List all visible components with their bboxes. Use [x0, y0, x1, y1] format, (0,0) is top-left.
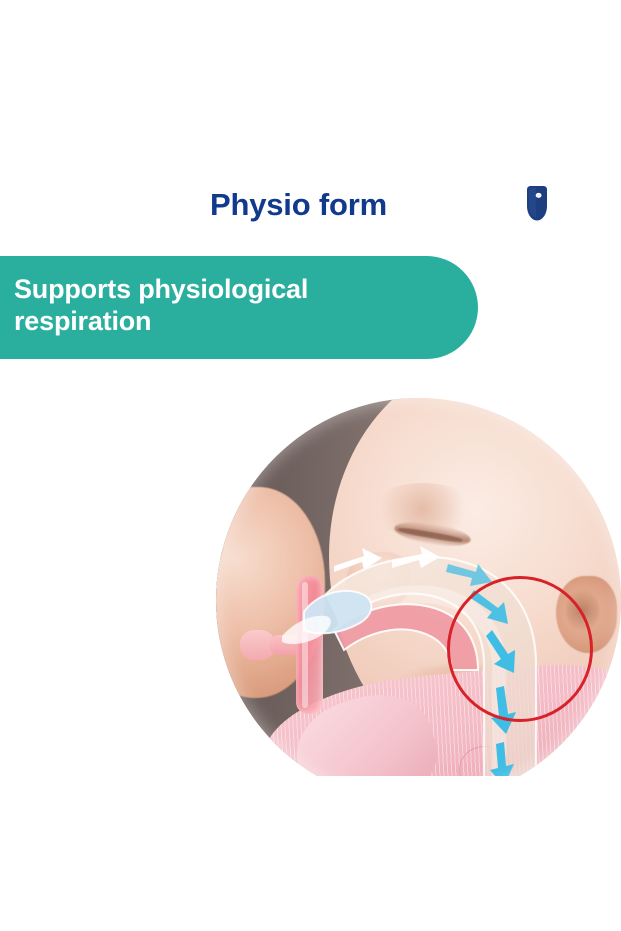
baby-photo-circle	[216, 398, 621, 776]
product-photo	[216, 398, 621, 776]
feature-banner-text: Supports physiological respiration	[14, 273, 414, 337]
red-highlight-circle	[447, 576, 593, 722]
pacifier-shield-icon	[524, 185, 550, 222]
page-title-text: Physio form	[210, 186, 387, 224]
pacifier-shield-highlight	[302, 582, 309, 709]
baby-finger	[216, 521, 223, 567]
feature-banner-line-2: respiration	[14, 305, 414, 337]
pacifier	[240, 576, 374, 714]
feature-banner-line-1: Supports physiological	[14, 273, 414, 305]
feature-banner: Supports physiological respiration	[0, 256, 478, 359]
pacifier-shield	[296, 576, 323, 714]
product-feature-card: Physio form Supports physiological respi…	[0, 0, 621, 931]
